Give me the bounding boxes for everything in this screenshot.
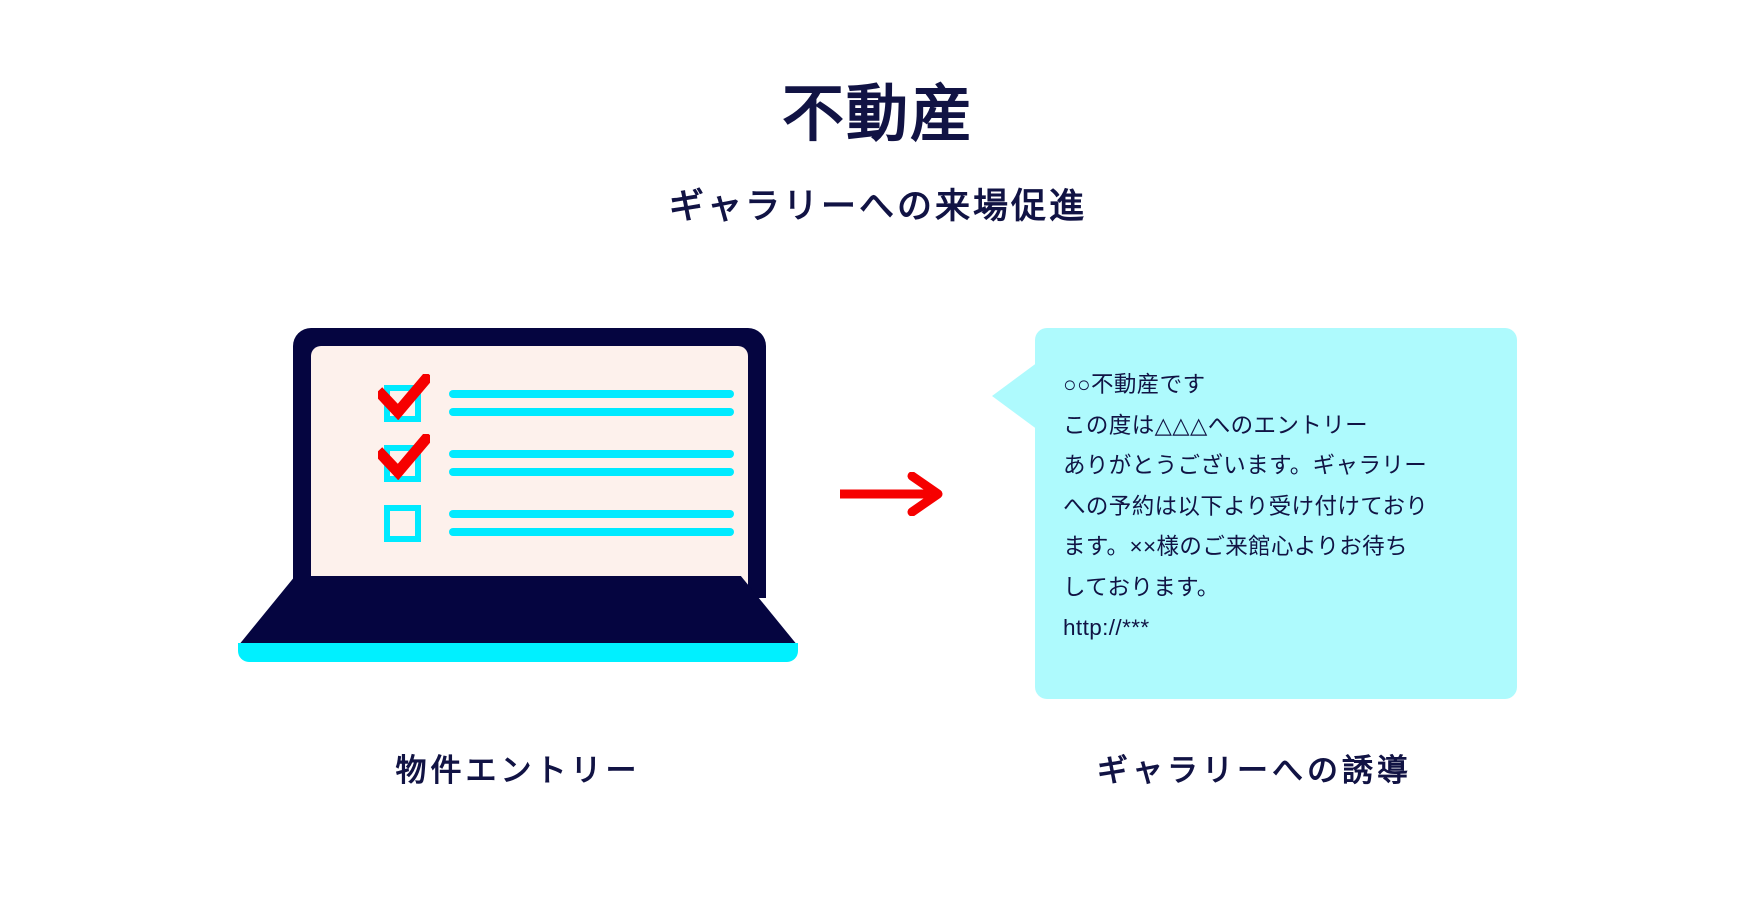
- page-subtitle: ギャラリーへの来場促進: [0, 188, 1756, 227]
- checklist-item: [384, 440, 734, 486]
- laptop-screen: [311, 346, 748, 596]
- speech-bubble-text: ○○不動産です この度は△△△へのエントリー ありがとうございます。ギャラリー …: [1063, 365, 1493, 649]
- caption-right: ギャラリーへの誘導: [992, 745, 1517, 790]
- text-placeholder-lines: [449, 510, 734, 536]
- page-title: 不動産: [0, 82, 1756, 147]
- checkbox-checked[interactable]: [384, 445, 421, 482]
- placeholder-line: [449, 528, 734, 536]
- caption-left: 物件エントリー: [238, 745, 798, 790]
- placeholder-line: [449, 468, 734, 476]
- checklist-item: [384, 500, 734, 546]
- checkbox-unchecked[interactable]: [384, 505, 421, 542]
- checklist-item: [384, 380, 734, 426]
- right-arrow-icon: [838, 472, 948, 516]
- laptop-lid: [293, 328, 766, 598]
- speech-bubble-tail: [992, 362, 1038, 430]
- slide-canvas: 不動産 ギャラリーへの来場促進: [0, 0, 1756, 910]
- checkbox-checked[interactable]: [384, 385, 421, 422]
- laptop-front-edge: [238, 643, 798, 662]
- text-placeholder-lines: [449, 450, 734, 476]
- check-mark-icon: [378, 434, 430, 480]
- placeholder-line: [449, 390, 734, 398]
- laptop-base: [238, 576, 798, 646]
- placeholder-line: [449, 408, 734, 416]
- text-placeholder-lines: [449, 390, 734, 416]
- laptop-illustration: [238, 328, 798, 698]
- placeholder-line: [449, 450, 734, 458]
- placeholder-line: [449, 510, 734, 518]
- check-mark-icon: [378, 374, 430, 420]
